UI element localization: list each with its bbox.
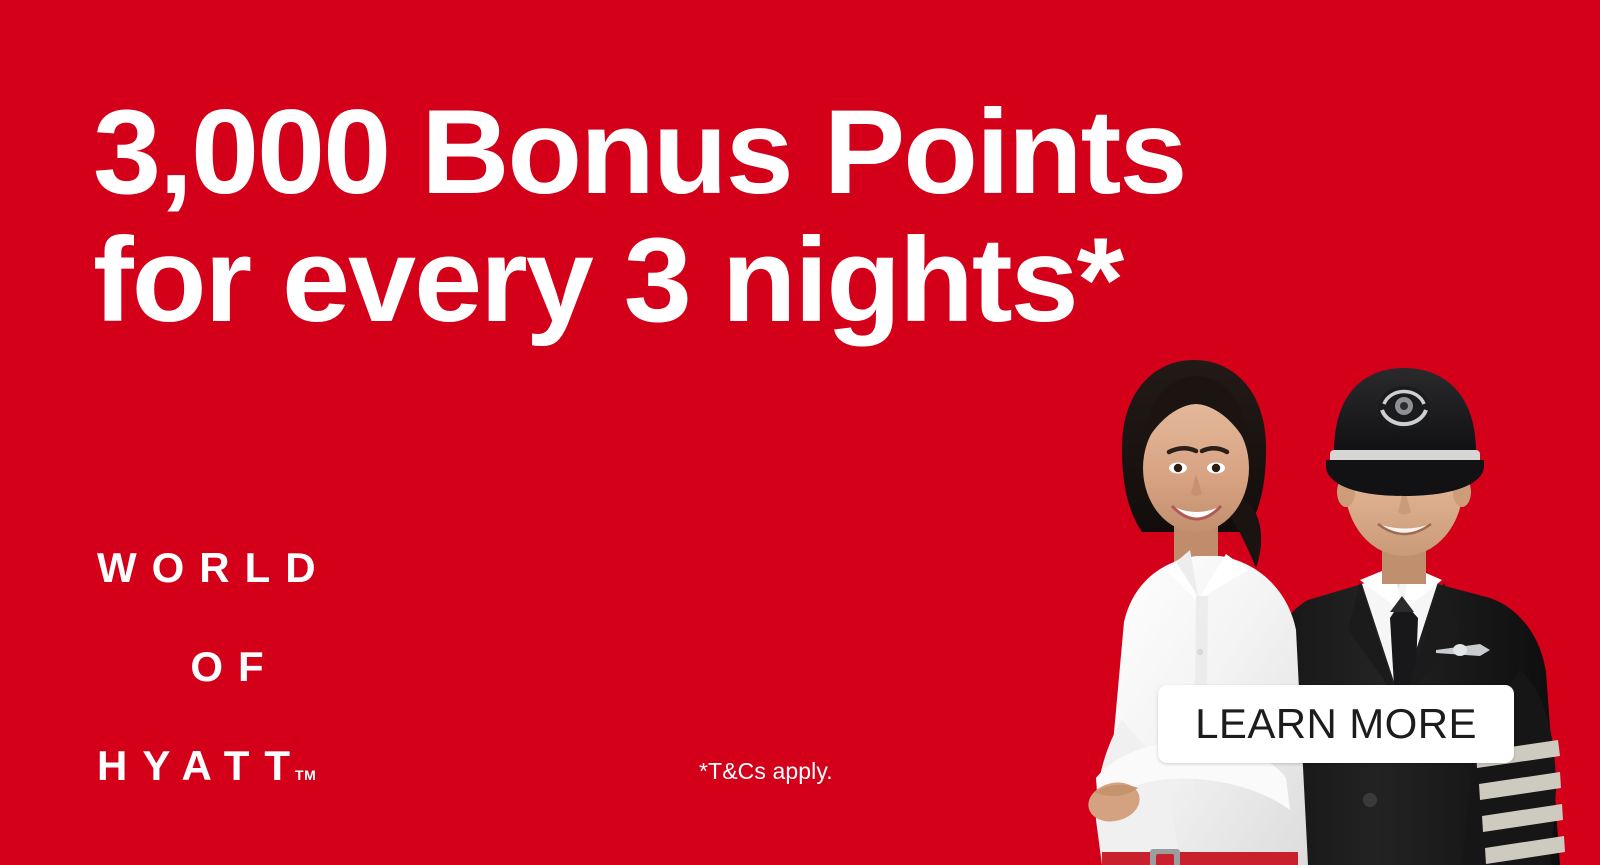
logo-line-of: OF	[95, 617, 360, 716]
attendant-belt	[1102, 852, 1298, 865]
pilot-cap	[1326, 368, 1484, 496]
world-of-hyatt-logo: WORLD OF HYATTTM	[95, 518, 360, 825]
headline-line-2: for every 3 nights*	[93, 216, 1185, 344]
headline-line-1: 3,000 Bonus Points	[93, 88, 1185, 216]
logo-hyatt-text: HYATT	[97, 742, 305, 789]
promotional-banner: 3,000 Bonus Points for every 3 nights* W…	[0, 0, 1600, 865]
page-title: 3,000 Bonus Points for every 3 nights*	[93, 88, 1185, 344]
logo-line-hyatt: HYATTTM	[95, 716, 360, 825]
logo-line-world: WORLD	[95, 518, 360, 617]
airline-crew-photo	[990, 300, 1600, 865]
learn-more-button[interactable]: LEARN MORE	[1158, 685, 1514, 763]
trademark-symbol: TM	[295, 767, 316, 783]
terms-disclaimer: *T&Cs apply.	[699, 758, 833, 785]
learn-more-label: LEARN MORE	[1195, 700, 1477, 748]
